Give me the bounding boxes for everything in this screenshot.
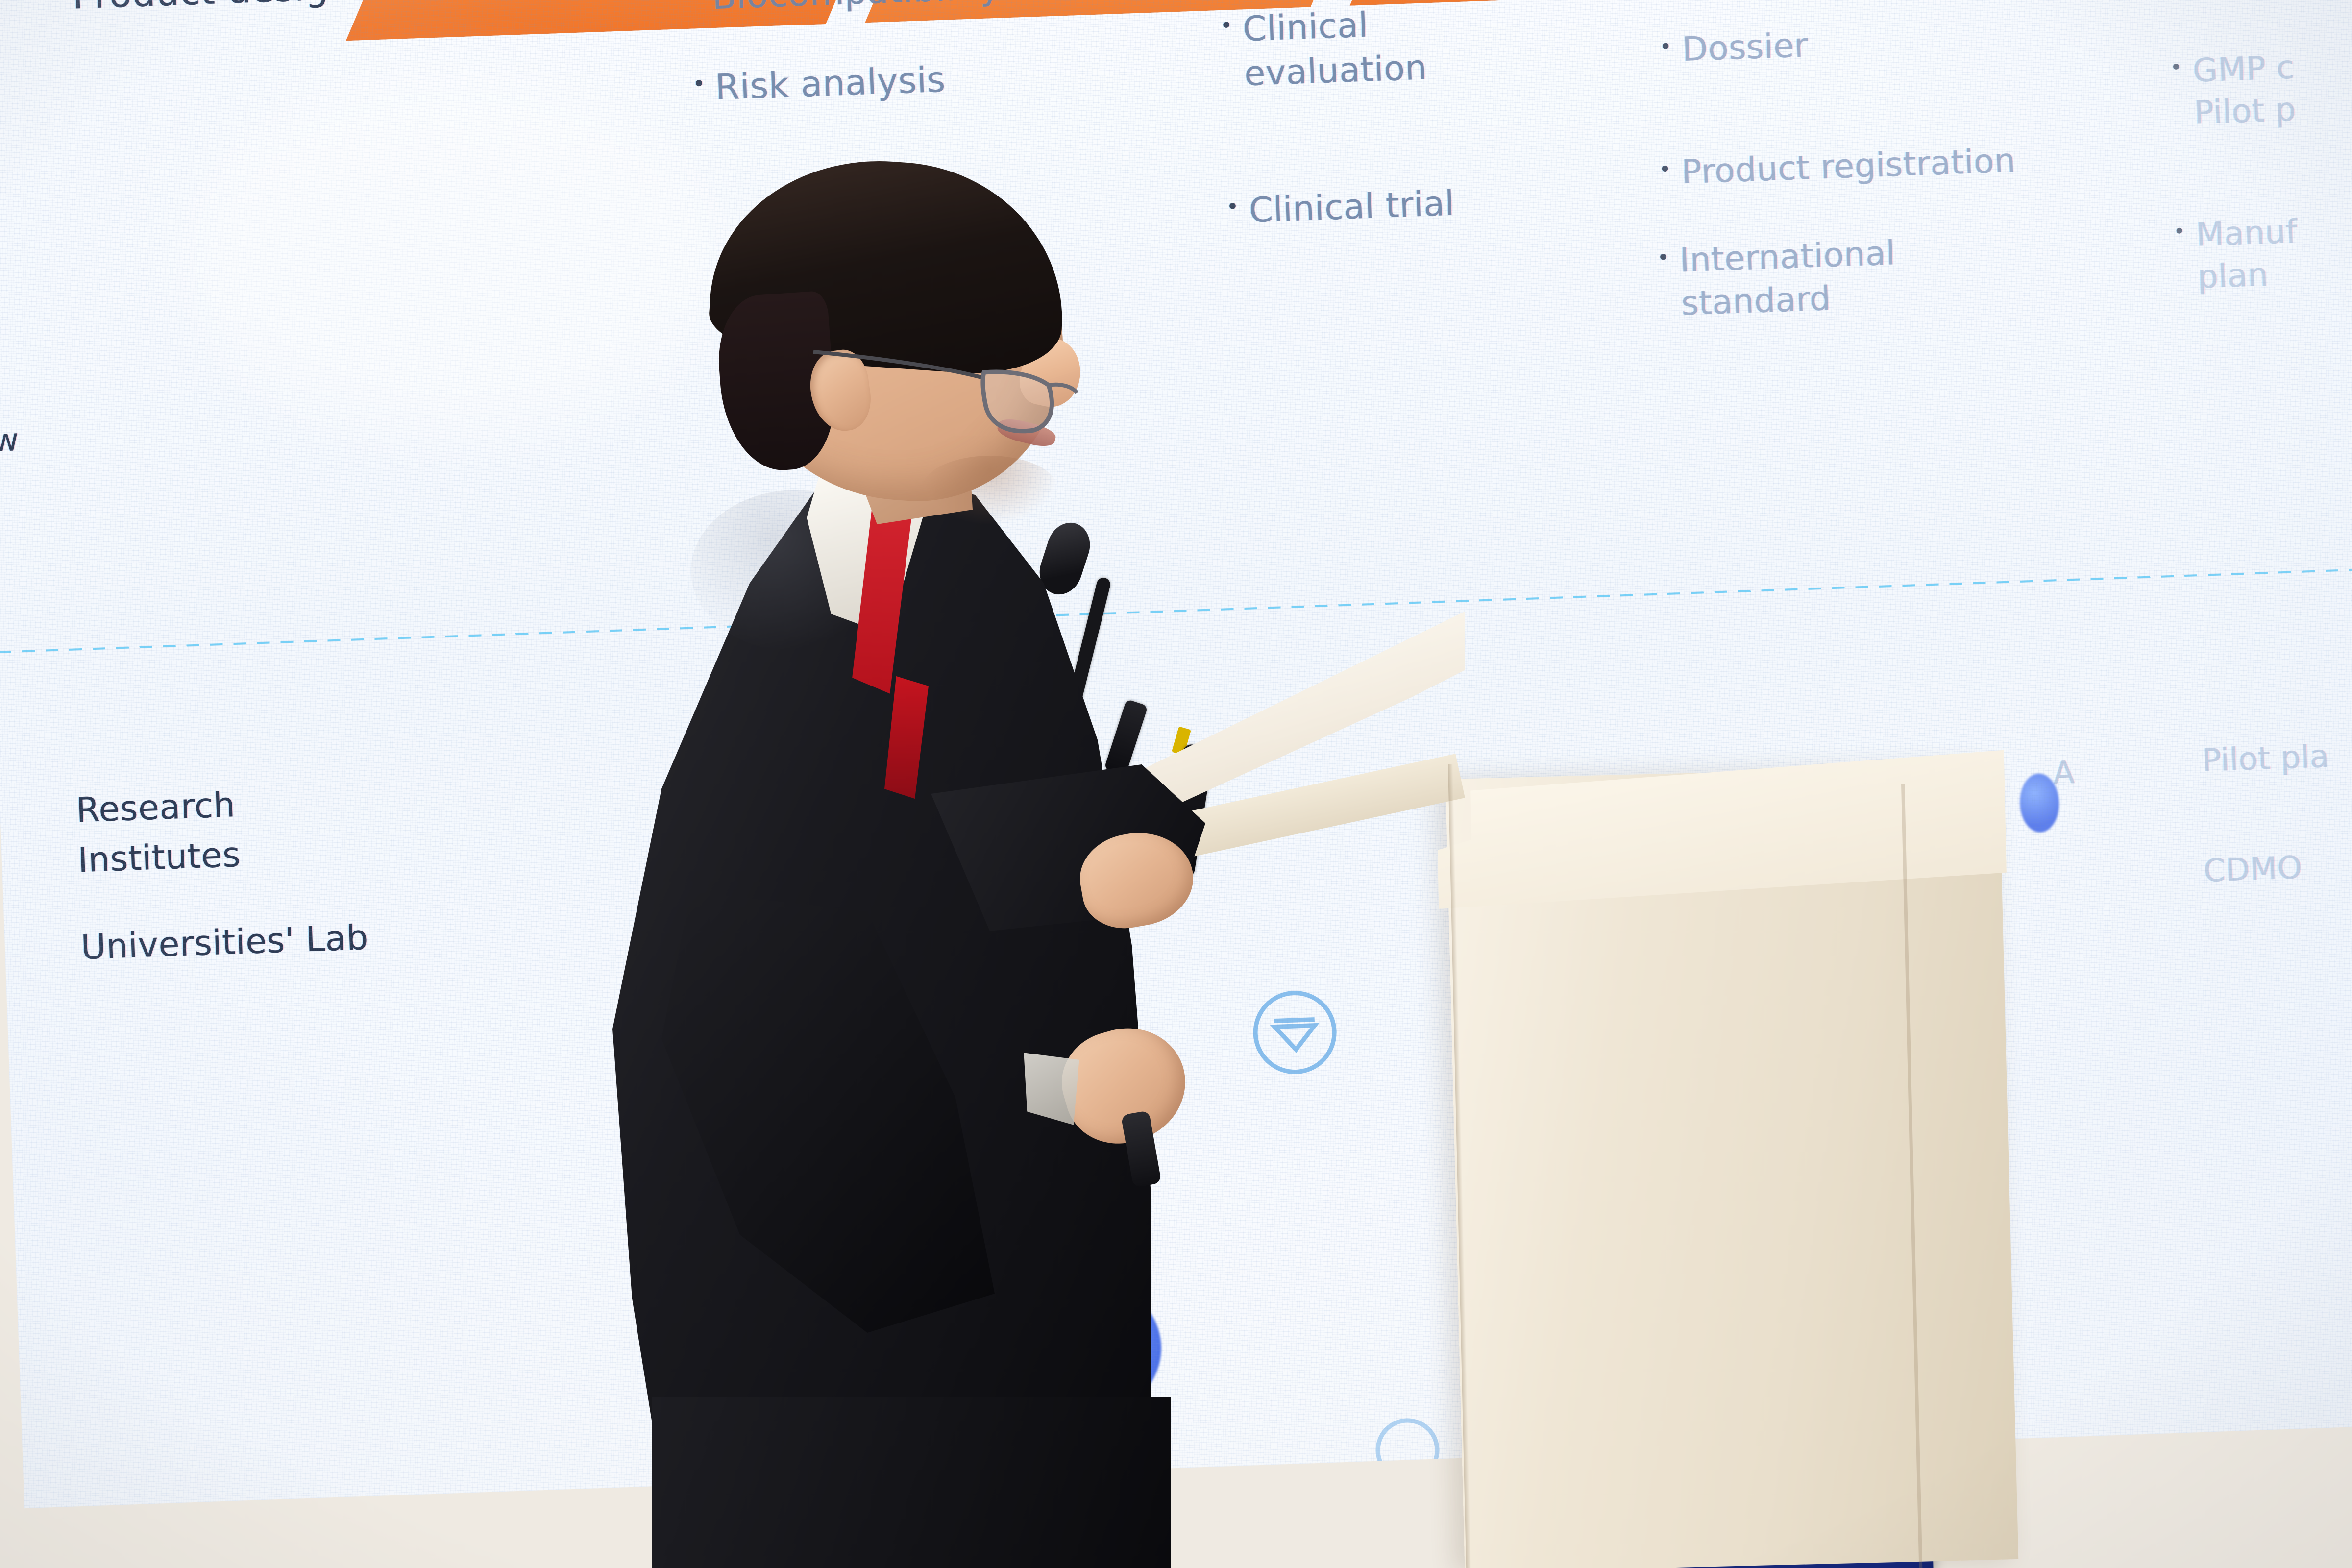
- small-ring-icon: [1374, 1417, 1440, 1483]
- slide-bullet-risk-analysis: Risk analysis: [714, 57, 946, 111]
- slide-bullet-manufacturing-plan: Manuf plan: [2195, 211, 2300, 298]
- slide-label-universities-lab: Universities' Lab: [80, 915, 369, 970]
- slide-fragment-review: ew: [0, 420, 20, 462]
- slide-bullet-dossier: Dossier: [1682, 24, 1809, 72]
- slide-bullet-product-registration: Product registration: [1681, 140, 2016, 195]
- speaker-lower-body: [652, 1396, 1171, 1568]
- speaker-chin-shade: [921, 456, 1058, 524]
- slide-bullet-clinical-trial: Clinical trial: [1248, 181, 1455, 233]
- slide-label-cdmo: CDMO: [2203, 848, 2303, 892]
- slide-bullet-international-standard: International standard: [1679, 232, 1898, 326]
- conference-photo: sk Product design Biocompatibility Risk …: [0, 0, 2352, 1568]
- slide-divider: [0, 567, 2352, 654]
- speaker-glasses-icon: [804, 338, 1078, 456]
- slide-label-pilot-plant: Pilot pla: [2202, 736, 2330, 782]
- slide-bullet-gmp-pilot-plant: GMP c Pilot p: [2192, 47, 2297, 134]
- slide-label-research-institutes: Research Institutes: [75, 780, 242, 885]
- certification-ring-icon: [1252, 989, 1338, 1076]
- slide-bullet-clinical-evaluation: Clinical evaluation: [1242, 0, 1428, 96]
